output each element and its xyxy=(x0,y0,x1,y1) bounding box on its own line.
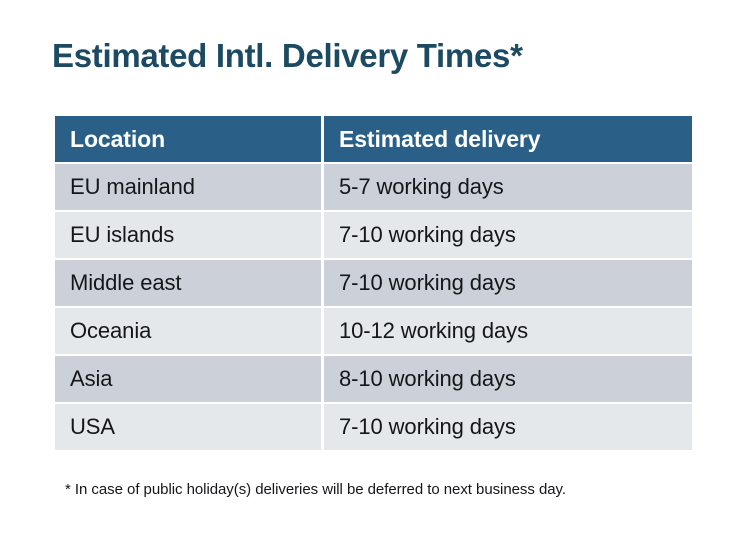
table-row: USA 7-10 working days xyxy=(55,404,692,450)
cell-location: EU mainland xyxy=(55,164,321,210)
table-row: Oceania 10-12 working days xyxy=(55,308,692,354)
table-header-row: Location Estimated delivery xyxy=(55,116,692,162)
cell-location: Middle east xyxy=(55,260,321,306)
page-title: Estimated Intl. Delivery Times* xyxy=(52,36,523,76)
column-header-estimated-delivery: Estimated delivery xyxy=(324,116,692,162)
footnote-text: * In case of public holiday(s) deliverie… xyxy=(65,480,566,500)
cell-delivery: 7-10 working days xyxy=(324,260,692,306)
table-row: EU mainland 5-7 working days xyxy=(55,164,692,210)
cell-delivery: 7-10 working days xyxy=(324,212,692,258)
delivery-times-table: Location Estimated delivery EU mainland … xyxy=(52,114,695,452)
table-body: EU mainland 5-7 working days EU islands … xyxy=(55,164,692,450)
cell-location: Oceania xyxy=(55,308,321,354)
cell-delivery: 8-10 working days xyxy=(324,356,692,402)
table-row: Middle east 7-10 working days xyxy=(55,260,692,306)
cell-location: USA xyxy=(55,404,321,450)
table-row: EU islands 7-10 working days xyxy=(55,212,692,258)
delivery-times-page: Estimated Intl. Delivery Times* Location… xyxy=(0,0,745,536)
cell-delivery: 10-12 working days xyxy=(324,308,692,354)
column-header-location: Location xyxy=(55,116,321,162)
cell-location: EU islands xyxy=(55,212,321,258)
table-row: Asia 8-10 working days xyxy=(55,356,692,402)
table-header: Location Estimated delivery xyxy=(55,116,692,162)
cell-location: Asia xyxy=(55,356,321,402)
cell-delivery: 7-10 working days xyxy=(324,404,692,450)
cell-delivery: 5-7 working days xyxy=(324,164,692,210)
